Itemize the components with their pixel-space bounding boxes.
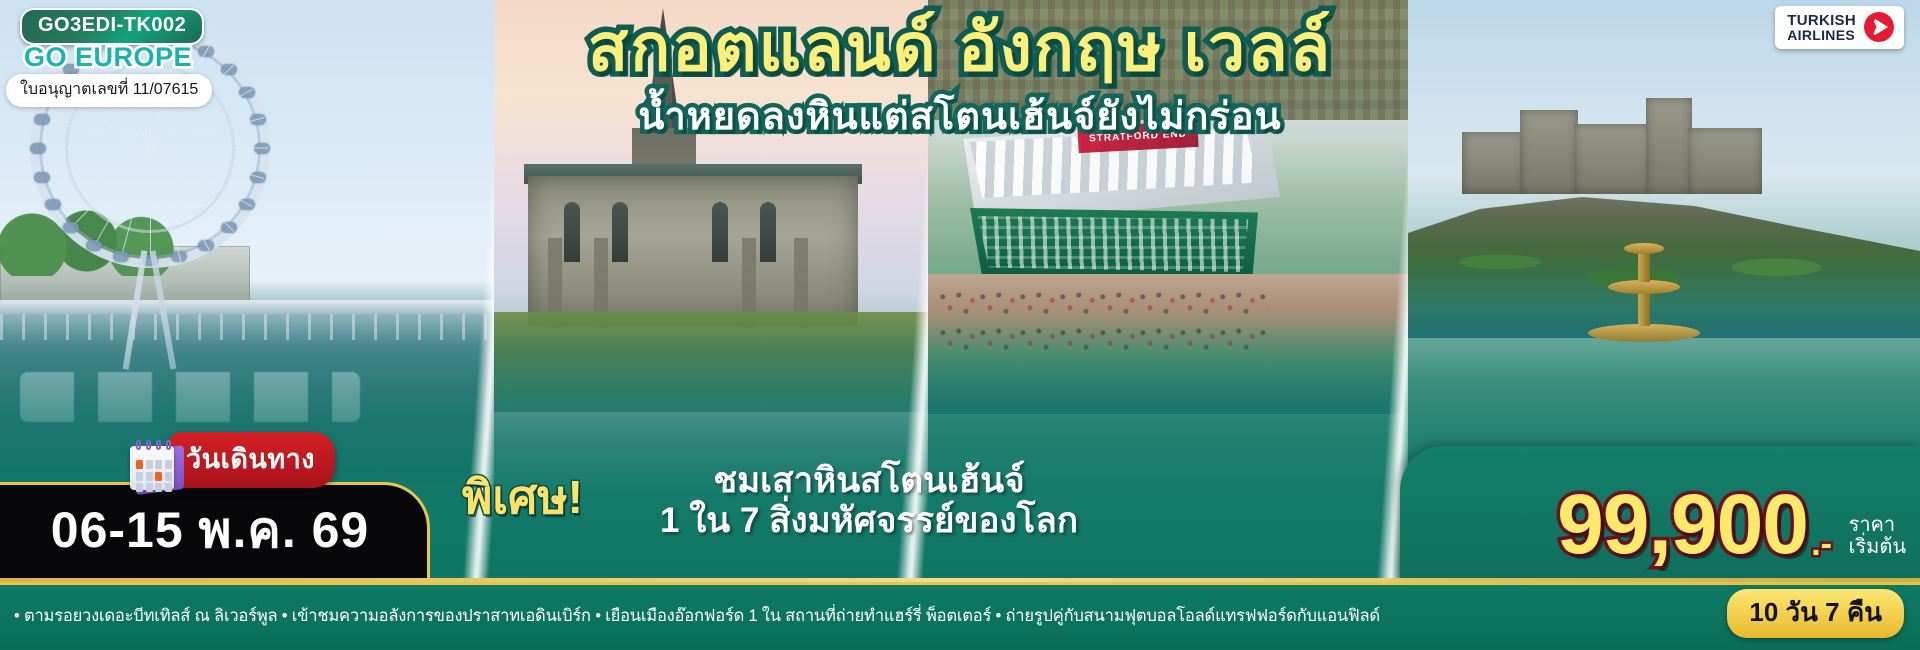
- fountain-top: [1624, 243, 1664, 254]
- cathedral-window: [760, 202, 776, 262]
- price-label: ราคา เริ่มต้น: [1849, 514, 1906, 558]
- airline-line1: TURKISH: [1787, 13, 1856, 28]
- turkish-airlines-bird-icon: [1864, 12, 1894, 42]
- travel-date-label: วันเดินทาง: [170, 432, 335, 488]
- airline-line2: AIRLINES: [1787, 28, 1856, 42]
- price-currency-mark: .-: [1811, 525, 1832, 564]
- tour-code-text: GO3EDI-TK002: [38, 14, 186, 36]
- price-amount: 99,900: [1557, 482, 1808, 566]
- license-text: ใบอนุญาตเลขที่ 11/07615: [20, 81, 198, 98]
- itinerary-row: • ตามรอยวงเดอะบีทเทิลส์ ณ ลิเวอร์พูล • เ…: [0, 582, 1920, 650]
- castle-block: [1520, 110, 1578, 194]
- ferris-wheel-pod: [113, 251, 129, 262]
- edinburgh-castle: [1462, 98, 1762, 194]
- cathedral-window: [564, 202, 580, 262]
- stadium-seats: [972, 216, 1254, 272]
- ferris-wheel-pod: [34, 114, 50, 125]
- manchester-suburb: [928, 0, 1408, 120]
- special-label: พิเศษ!: [462, 461, 583, 534]
- fountain-column: [1638, 292, 1650, 326]
- promo-line-1: ชมเสาหินสโตนเฮ้นจ์: [660, 461, 1078, 502]
- calendar-grid: [136, 460, 172, 492]
- duration-badge: 10 วัน 7 คืน: [1727, 589, 1904, 638]
- fountain-tier: [1608, 280, 1680, 294]
- calendar-rings: [134, 440, 178, 450]
- license-badge: ใบอนุญาตเลขที่ 11/07615: [6, 74, 212, 107]
- travel-date-label-text: วันเดินทาง: [186, 444, 315, 474]
- ferris-wheel-pod: [34, 172, 50, 183]
- ferris-wheel-pod: [63, 222, 79, 233]
- castle-block: [1462, 132, 1524, 194]
- ferris-wheel-pod: [30, 143, 46, 154]
- cathedral-window: [612, 202, 628, 262]
- travel-promo-banner: STRATFORD END: [0, 0, 1920, 650]
- westminster-bridge: [0, 300, 494, 314]
- price-label-line2: เริ่มต้น: [1849, 536, 1906, 558]
- brand-logo-text: GO EUROPE: [24, 42, 192, 73]
- cathedral-window: [712, 202, 728, 262]
- airline-name: TURKISH AIRLINES: [1787, 13, 1856, 42]
- calendar-icon: [128, 438, 186, 496]
- promo-line-2: 1 ใน 7 สิ่งมหัศจรรย์ของโลก: [660, 501, 1078, 542]
- ferris-wheel-pod: [86, 240, 102, 251]
- castle-block: [1574, 124, 1650, 194]
- fountain-column: [1638, 252, 1650, 282]
- airline-logo: TURKISH AIRLINES: [1775, 6, 1904, 49]
- castle-block: [1688, 128, 1762, 194]
- castle-keep: [1646, 98, 1692, 194]
- duration-text: 10 วัน 7 คืน: [1749, 597, 1882, 627]
- ferris-wheel-pod: [254, 143, 270, 154]
- itinerary-text: • ตามรอยวงเดอะบีทเทิลส์ ณ ลิเวอร์พูล • เ…: [0, 603, 1380, 629]
- tour-code-badge: GO3EDI-TK002: [20, 8, 204, 45]
- price-label-line1: ราคา: [1849, 514, 1906, 536]
- ferris-wheel-pod: [45, 199, 61, 210]
- calendar-front: [130, 446, 174, 490]
- promo-highlight: ชมเสาหินสโตนเฮ้นจ์ 1 ใน 7 สิ่งมหัศจรรย์ข…: [660, 461, 1078, 542]
- travel-dates: 06-15 พ.ค. 69: [0, 488, 420, 572]
